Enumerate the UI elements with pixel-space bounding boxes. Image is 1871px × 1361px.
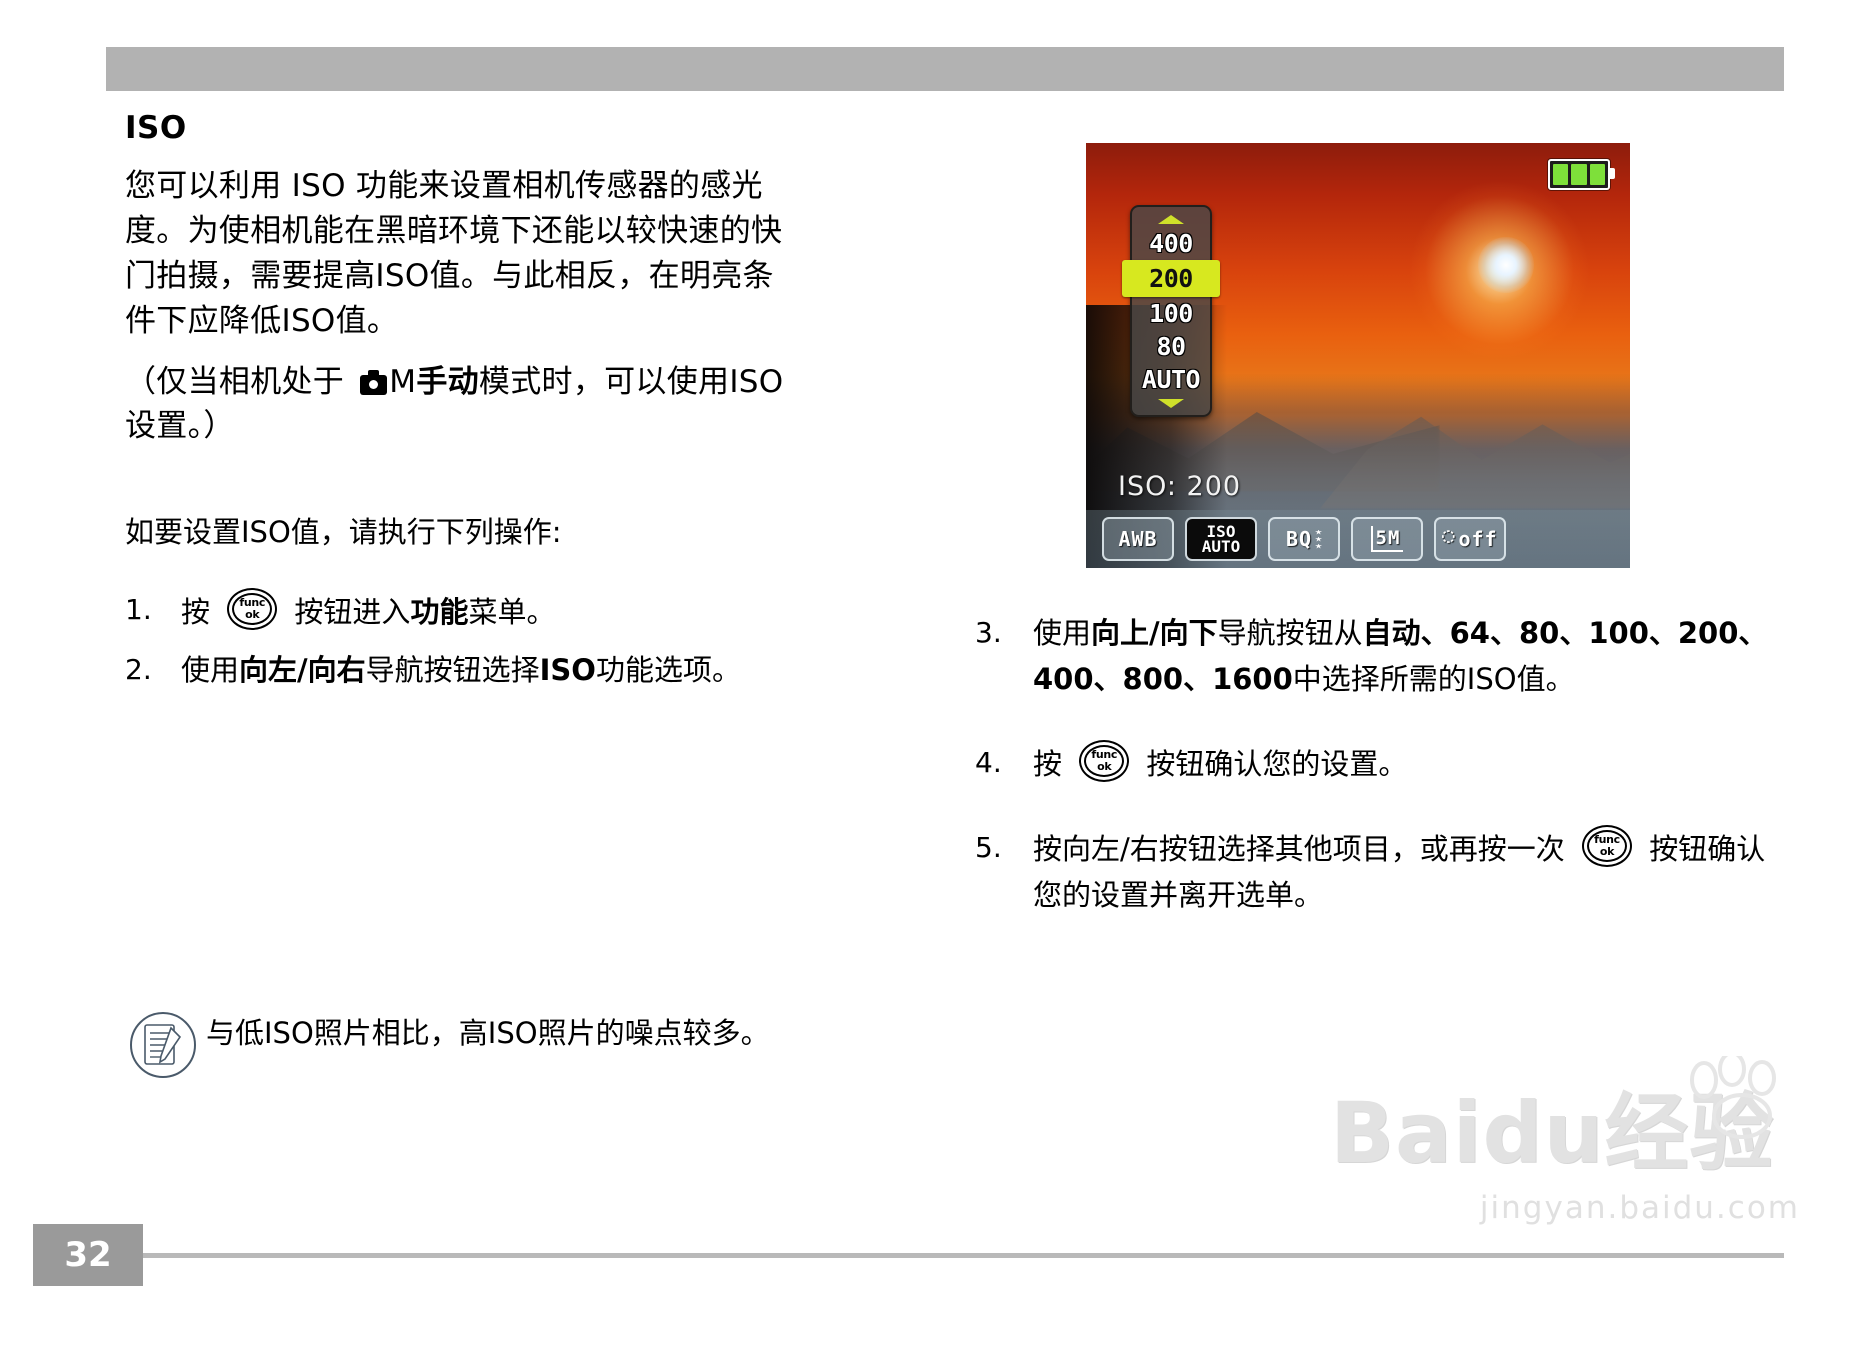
right-column: 3.使用向上/向下导航按钮从自动、64、80、100、200、400、800、1… [975,610,1775,956]
func-ok-button-icon: funcok [1582,825,1632,867]
iso-auto-stack: ISO AUTO [1202,524,1241,554]
list-item: 1.按 funcok 按钮进入功能菜单。 [125,588,805,634]
image-size-5m-icon[interactable]: 5M [1351,517,1423,561]
step-text-mid: 导航按钮从 [1218,616,1363,650]
awb-label: AWB [1118,527,1157,551]
step-text-mid: 导航按钮选择 [366,653,540,687]
iso-option-100[interactable]: 100 [1132,297,1210,330]
list-item: 2.使用向左/向右导航按钮选择ISO功能选项。 [125,648,805,692]
manual-mode-note-paragraph: （仅当相机处于 M手动模式时，可以使用ISO设置。） [125,360,805,448]
bq-label: BQ [1286,527,1312,551]
step-text-post: 中选择所需的ISO值。 [1293,662,1575,696]
iso-option-400[interactable]: 400 [1132,227,1210,260]
lcd-function-bar: AWB ISO AUTO BQ 5M ◌ off [1086,510,1630,568]
step-text-pre: 按 [1033,747,1071,781]
iso-readout-label: ISO: 200 [1118,471,1241,502]
left-steps-list: 1.按 funcok 按钮进入功能菜单。 2.使用向左/向右导航按钮选择ISO功… [125,588,805,692]
paragraph2-bold: 手动 [416,364,479,400]
step-text-pre: 按向左/右按钮选择其他项目，或再按一次 [1033,832,1574,866]
note-block: 与低ISO照片相比，高ISO照片的噪点较多。 [130,1010,820,1078]
ok-label: ok [1081,761,1127,772]
list-item: 4.按 funcok 按钮确认您的设置。 [975,740,1775,787]
watermark-main-text: Baidu经验 [1330,1090,1800,1176]
bq-group: BQ [1286,527,1322,551]
date-stamp-off-icon[interactable]: ◌ off [1434,517,1506,561]
step-text-bold2: ISO [540,653,596,687]
page-number-badge: 32 [33,1224,143,1286]
left-column: ISO 您可以利用 ISO 功能来设置相机传感器的感光度。为使相机能在黑暗环境下… [125,110,805,706]
off-circle-icon: ◌ [1442,523,1456,547]
iso-auto-line2: AUTO [1202,539,1241,554]
iso-description-paragraph: 您可以利用 ISO 功能来设置相机传感器的感光度。为使相机能在黑暗环境下还能以较… [125,164,805,344]
step-text-pre: 使用 [1033,616,1091,650]
paragraph2-mode: M [389,364,416,400]
page-title: ISO [125,110,805,146]
iso-value-picker[interactable]: 400 200 100 80 AUTO [1130,205,1212,417]
paw-print-icon [1682,1056,1792,1142]
func-label: func [229,597,275,608]
ok-label: ok [229,609,275,620]
size-label: 5M [1371,526,1404,552]
manual-page: ISO 您可以利用 ISO 功能来设置相机传感器的感光度。为使相机能在黑暗环境下… [0,0,1871,1361]
steps-intro: 如要设置ISO值，请执行下列操作: [125,510,805,554]
list-item: 5.按向左/右按钮选择其他项目，或再按一次 funcok 按钮确认您的设置并离开… [975,825,1775,918]
step-text-a: 按钮进入 [285,595,410,629]
step-number: 1. [125,588,171,632]
iso-option-80[interactable]: 80 [1132,330,1210,363]
step-text-post: 功能选项。 [596,653,741,687]
camera-mode-icon [360,375,387,395]
step-number: 4. [975,740,1002,786]
func-ok-button-icon: funcok [227,588,277,630]
iso-option-auto[interactable]: AUTO [1132,363,1210,396]
step-text-pre: 按 [181,595,219,629]
step-number: 2. [125,648,171,692]
func-ok-button-icon: funcok [1079,740,1129,782]
iso-auto-icon[interactable]: ISO AUTO [1185,517,1257,561]
step-number: 3. [975,610,1002,656]
note-icon [130,1012,196,1078]
footer-divider [106,1253,1784,1258]
note-icon-svg [141,1022,185,1068]
right-steps-list: 3.使用向上/向下导航按钮从自动、64、80、100、200、400、800、1… [975,610,1775,918]
camera-lcd-screenshot: 400 200 100 80 AUTO ISO: 200 AWB ISO AUT… [1086,143,1630,568]
white-balance-icon[interactable]: AWB [1102,517,1174,561]
note-text: 与低ISO照片相比，高ISO照片的噪点较多。 [206,1010,770,1055]
sun-glow [1478,237,1534,293]
func-label: func [1584,834,1630,845]
step-text-pre: 使用 [181,653,239,687]
list-item: 3.使用向上/向下导航按钮从自动、64、80、100、200、400、800、1… [975,610,1775,702]
ok-label: ok [1584,846,1630,857]
step-number: 5. [975,825,1002,871]
step-text-bold1: 向左/向右 [239,653,366,687]
bq-stars-icon [1315,530,1322,549]
watermark-sub-text: jingyan.baidu.com [1330,1190,1800,1226]
paragraph2-pre: （仅当相机处于 [125,364,354,400]
func-label: func [1081,749,1127,760]
battery-full-icon [1548,159,1610,190]
step-text-b: 菜单。 [468,595,555,629]
baidu-watermark: Baidu经验 jingyan.baidu.com [1330,1090,1800,1310]
step-text-post: 按钮确认您的设置。 [1137,747,1407,781]
burst-quality-icon[interactable]: BQ [1268,517,1340,561]
scroll-down-arrow-icon[interactable] [1158,399,1184,408]
battery-cells [1553,164,1605,185]
iso-option-200-selected[interactable]: 200 [1122,260,1220,297]
step-text-bold: 功能 [410,595,468,629]
header-band [106,47,1784,91]
step-text-bold1: 向上/向下 [1091,616,1218,650]
scroll-up-arrow-icon[interactable] [1158,215,1184,224]
